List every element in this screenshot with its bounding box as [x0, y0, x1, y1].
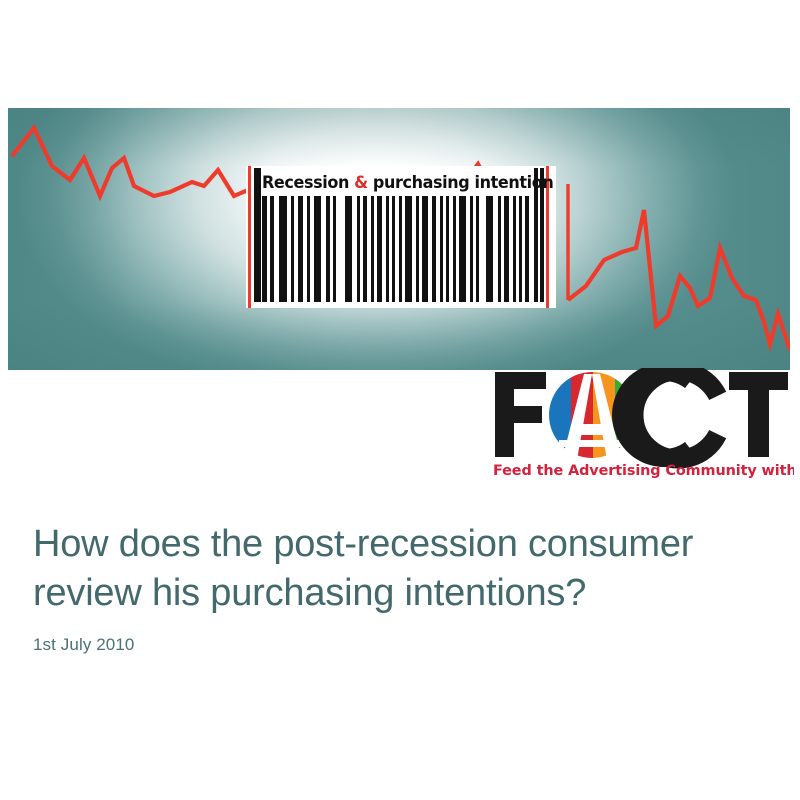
barcode-caption-ampersand: & [354, 173, 368, 192]
barcode-bar [357, 196, 360, 302]
logo-letter-c [612, 368, 734, 467]
barcode-bar [405, 196, 412, 302]
barcode-bar [399, 196, 402, 302]
barcode-bar [513, 196, 516, 302]
barcode-bar [298, 196, 303, 302]
barcode-bar [307, 196, 310, 302]
barcode-guard-bar [254, 168, 261, 302]
barcode-bar [371, 196, 374, 302]
trend-line-right [568, 210, 790, 350]
barcode-graphic: Recession & purchasing intention [246, 166, 556, 308]
barcode-bar [470, 196, 473, 302]
barcode-bar [440, 196, 443, 302]
barcode-bar [270, 196, 274, 302]
barcode-bar [504, 196, 509, 302]
title-block: How does the post-recession consumer rev… [33, 520, 763, 655]
barcode-bar [525, 196, 529, 302]
barcode-bar [326, 196, 330, 302]
barcode-bar [377, 196, 382, 302]
fact-logo: Feed the Advertising Community with Tren… [489, 368, 794, 480]
barcode-bar [392, 196, 395, 302]
logo-letter-f [495, 372, 546, 457]
barcode-bar [486, 196, 493, 302]
barcode-bar [333, 196, 336, 302]
barcode-bar [386, 196, 389, 302]
barcode-left-red-rail [248, 166, 251, 308]
barcode-bar [279, 196, 287, 302]
fact-logo-artwork: Feed the Advertising Community with Tren… [489, 368, 794, 480]
barcode-bar [422, 196, 428, 302]
slide-date: 1st July 2010 [33, 635, 763, 655]
barcode-bar [459, 196, 466, 302]
page-title: How does the post-recession consumer rev… [33, 520, 763, 619]
barcode-bar [262, 196, 267, 302]
barcode-caption-part-1: Recession [262, 173, 354, 192]
barcode-bar [476, 196, 479, 302]
logo-letter-t [729, 372, 788, 457]
title-slide: Recession & purchasing intention [0, 0, 800, 800]
barcode-bar [446, 196, 449, 302]
barcode-caption-part-2: purchasing intention [368, 173, 554, 192]
barcode-bar [345, 196, 352, 302]
barcode-bar [498, 196, 501, 302]
barcode-bar [291, 196, 294, 302]
recession-banner-image: Recession & purchasing intention [8, 108, 790, 370]
barcode-caption: Recession & purchasing intention [262, 169, 532, 196]
logo-tagline: Feed the Advertising Community with Tren… [493, 463, 794, 479]
barcode-bar [453, 196, 456, 302]
barcode-bar [519, 196, 522, 302]
barcode-bar [416, 196, 419, 302]
barcode-bar [314, 196, 321, 302]
barcode-bar [432, 196, 436, 302]
barcode-bar [363, 196, 367, 302]
